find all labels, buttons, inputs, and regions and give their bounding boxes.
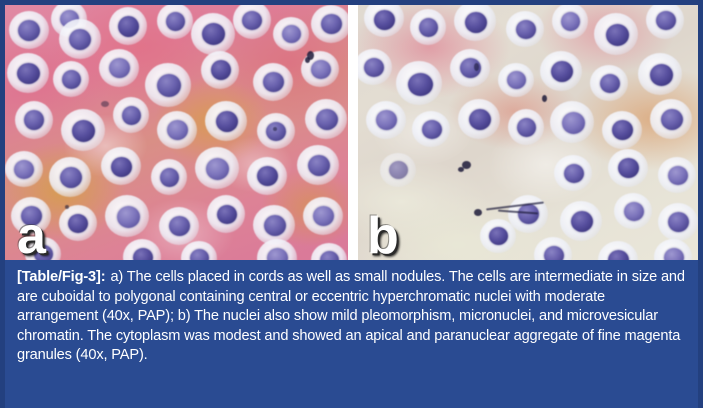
- cell: [506, 11, 544, 47]
- granule-aggregate: [474, 209, 482, 216]
- cell: [410, 9, 446, 45]
- cell: [498, 63, 534, 97]
- cell: [7, 53, 49, 93]
- cell: [191, 13, 235, 55]
- cell: [53, 61, 89, 97]
- granule-aggregate: [305, 57, 310, 63]
- cell: [61, 109, 105, 151]
- cell: [151, 159, 187, 195]
- micrograph-panel-a: a: [5, 5, 348, 260]
- cell: [638, 53, 682, 95]
- cell: [650, 99, 692, 139]
- cell: [145, 63, 191, 107]
- cell: [311, 5, 348, 43]
- cell: [159, 207, 199, 245]
- cell: [614, 193, 652, 229]
- cell: [658, 203, 698, 241]
- cell: [257, 113, 295, 149]
- caption-text: a) The cells placed in cords as well as …: [17, 269, 685, 363]
- micrograph-panel-b: b: [358, 5, 698, 260]
- cell: [253, 63, 293, 101]
- panel-label-a: a: [17, 210, 46, 260]
- cell: [540, 51, 582, 91]
- cell: [450, 49, 490, 87]
- cell: [205, 101, 247, 141]
- cell: [157, 111, 197, 149]
- cell: [658, 157, 696, 193]
- cell: [59, 19, 101, 59]
- cell: [15, 101, 53, 139]
- granule-aggregate: [474, 63, 479, 71]
- cell: [380, 153, 416, 187]
- panel-a-slide-image: [5, 5, 348, 260]
- cell: [366, 101, 406, 139]
- panel-b-slide-image: [358, 5, 698, 260]
- cell: [305, 99, 347, 139]
- cell: [590, 65, 628, 101]
- cell: [303, 197, 343, 235]
- cell: [201, 51, 239, 89]
- cell: [101, 147, 141, 185]
- granule-aggregate: [273, 127, 277, 131]
- cell: [5, 151, 43, 187]
- figure-caption: [Table/Fig-3]:a) The cells placed in cor…: [5, 260, 698, 408]
- cell: [480, 219, 516, 253]
- granule-aggregate: [101, 101, 109, 107]
- cell: [105, 195, 149, 237]
- cell: [297, 145, 339, 185]
- panel-label-b: b: [367, 210, 399, 260]
- cell: [109, 7, 147, 45]
- cell: [49, 157, 91, 197]
- cell: [59, 205, 97, 241]
- cell: [396, 61, 442, 105]
- granule-aggregate: [542, 95, 547, 102]
- cell: [458, 99, 500, 139]
- figure-panel-container: a: [0, 0, 703, 408]
- cell: [9, 11, 49, 49]
- panel-divider-gap: [348, 5, 358, 260]
- cell: [99, 49, 139, 87]
- cell: [273, 17, 309, 51]
- granule-aggregate: [65, 205, 69, 209]
- cell: [554, 155, 592, 191]
- cell: [602, 111, 642, 149]
- cell: [207, 195, 245, 233]
- granule-aggregate: [458, 167, 464, 172]
- cell: [508, 109, 544, 145]
- cell: [594, 13, 638, 55]
- cell: [412, 111, 450, 147]
- cell: [608, 149, 648, 187]
- cell: [550, 101, 594, 143]
- cell: [195, 147, 239, 189]
- caption-label: [Table/Fig-3]:: [17, 269, 105, 285]
- cell: [560, 201, 602, 241]
- cell: [113, 97, 149, 133]
- cell: [247, 157, 287, 195]
- micrograph-panels: a: [5, 5, 698, 260]
